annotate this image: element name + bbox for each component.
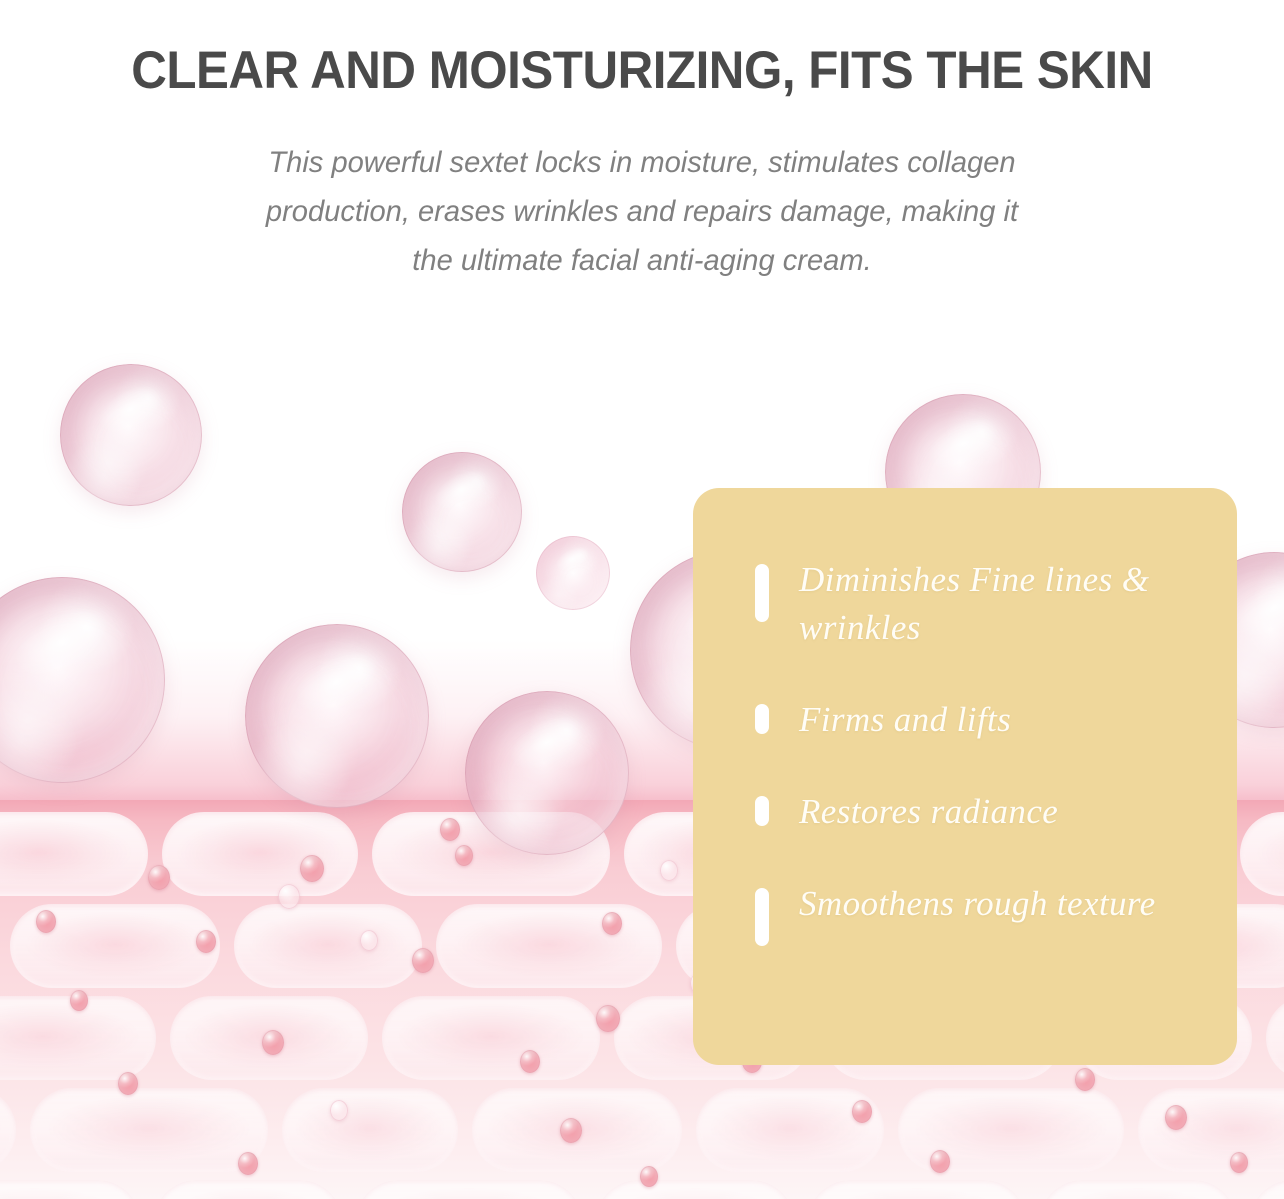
serum-droplet (262, 1030, 284, 1055)
serum-bubble (536, 536, 610, 610)
serum-droplet (278, 884, 300, 909)
serum-droplet (852, 1100, 872, 1123)
skin-cell (1250, 1180, 1284, 1199)
benefit-item: Diminishes Fine lines & wrinkles (755, 556, 1207, 652)
skin-cell (436, 904, 662, 988)
benefit-item: Smoothens rough texture (755, 880, 1207, 946)
benefit-label: Smoothens rough texture (799, 880, 1156, 928)
serum-bubble (60, 364, 202, 506)
skin-cell (1040, 1180, 1236, 1199)
benefit-label: Diminishes Fine lines & wrinkles (799, 556, 1179, 652)
skin-cell (696, 1088, 884, 1172)
skin-cell (356, 1180, 582, 1199)
serum-droplet (36, 910, 56, 933)
serum-droplet (560, 1118, 582, 1143)
serum-droplet (660, 860, 678, 881)
skin-cell (1240, 812, 1284, 896)
bullet-pill-icon (755, 888, 769, 946)
skin-cell (596, 1180, 794, 1199)
bullet-pill-icon (755, 704, 769, 734)
subtitle-line-1: This powerful sextet locks in moisture, … (157, 138, 1127, 187)
benefits-panel: Diminishes Fine lines & wrinklesFirms an… (693, 488, 1237, 1065)
serum-droplet (930, 1150, 950, 1173)
skin-cell (282, 1088, 458, 1172)
serum-droplet (360, 930, 378, 951)
promo-image: Diminishes Fine lines & wrinklesFirms an… (0, 0, 1284, 1199)
skin-cell (154, 1180, 342, 1199)
skin-cell (0, 1088, 16, 1172)
subtitle-line-3: the ultimate facial anti-aging cream. (157, 236, 1127, 285)
skin-cell (382, 996, 600, 1080)
page-subtitle: This powerful sextet locks in moisture, … (157, 138, 1127, 285)
serum-droplet (1165, 1105, 1187, 1130)
serum-bubble (402, 452, 522, 572)
skin-cell (0, 812, 148, 896)
serum-droplet (118, 1072, 138, 1095)
benefits-list: Diminishes Fine lines & wrinklesFirms an… (755, 556, 1207, 946)
skin-cell-row (0, 1088, 1284, 1172)
serum-droplet (455, 845, 473, 866)
skin-cell (162, 812, 358, 896)
skin-cell (1266, 996, 1284, 1080)
serum-droplet (330, 1100, 348, 1121)
skin-cell (30, 1088, 268, 1172)
serum-droplet (196, 930, 216, 953)
page-title: CLEAR AND MOISTURIZING, FITS THE SKIN (45, 40, 1239, 102)
serum-droplet (412, 948, 434, 973)
serum-bubble (0, 577, 165, 783)
serum-bubble (465, 691, 629, 855)
bullet-pill-icon (755, 796, 769, 826)
serum-droplet (148, 865, 170, 890)
serum-droplet (70, 990, 88, 1011)
skin-cell (1138, 1088, 1284, 1172)
serum-droplet (640, 1166, 658, 1187)
benefit-label: Firms and lifts (799, 696, 1011, 744)
serum-droplet (602, 912, 622, 935)
subtitle-line-2: production, erases wrinkles and repairs … (157, 187, 1127, 236)
serum-droplet (1075, 1068, 1095, 1091)
skin-cell (808, 1180, 1026, 1199)
skin-cell (234, 904, 422, 988)
skin-cell (0, 1180, 140, 1199)
bullet-pill-icon (755, 564, 769, 622)
serum-bubble (245, 624, 429, 808)
benefit-item: Restores radiance (755, 788, 1207, 836)
benefit-item: Firms and lifts (755, 696, 1207, 744)
serum-droplet (520, 1050, 540, 1073)
serum-droplet (1230, 1152, 1248, 1173)
serum-droplet (238, 1152, 258, 1175)
serum-droplet (440, 818, 460, 841)
benefit-label: Restores radiance (799, 788, 1058, 836)
